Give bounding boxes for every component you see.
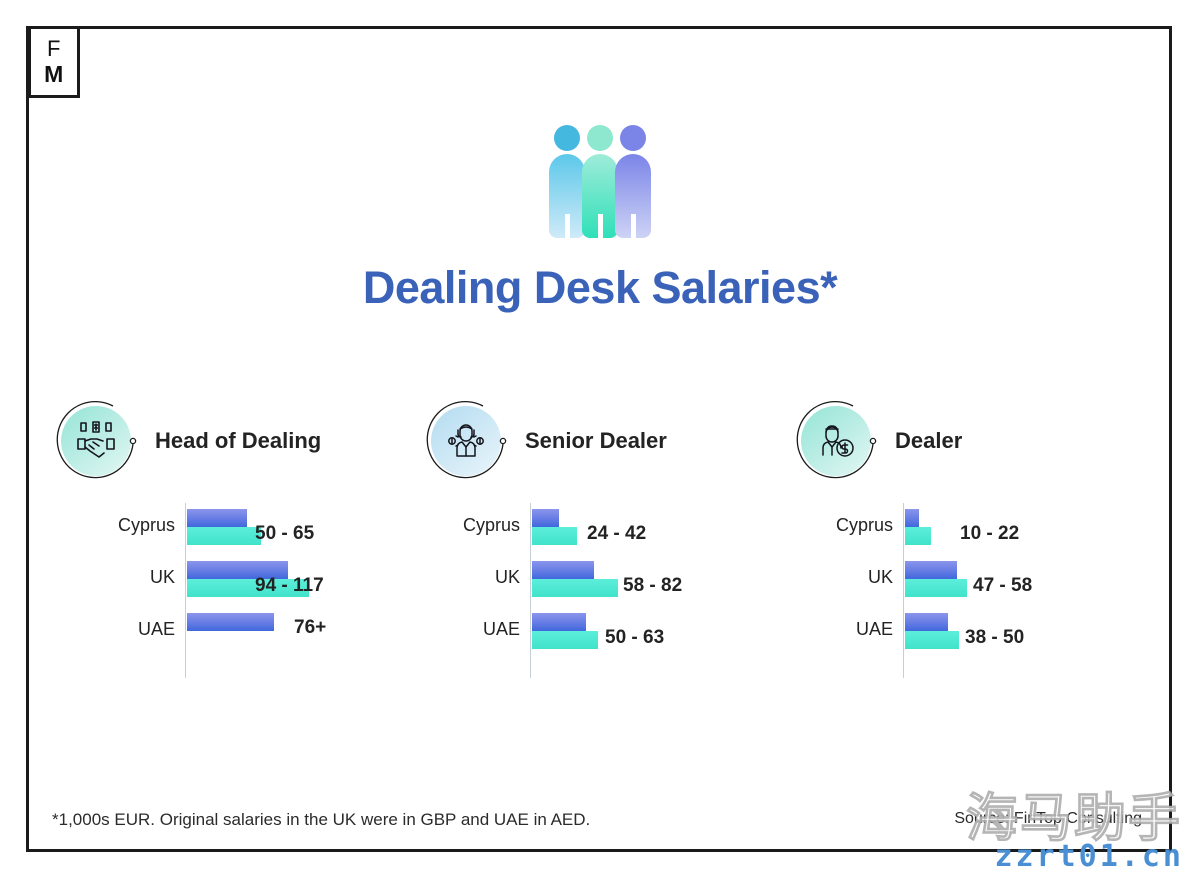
bar-low xyxy=(187,509,247,527)
source-text: Source: FinTop Consulting xyxy=(954,810,1142,828)
infographic-page: F M xyxy=(0,0,1200,878)
bar-low xyxy=(905,561,957,579)
role-title: Senior Dealer xyxy=(525,428,667,454)
row-bars xyxy=(905,613,959,649)
chart-row: UK 94 - 117 xyxy=(55,555,405,607)
chart-row: UAE 76+ xyxy=(55,607,405,659)
bar-low xyxy=(532,509,559,527)
row-label: Cyprus xyxy=(836,515,893,536)
role-panel-head-of-dealing: Head of Dealing Cyprus 50 - 65 UK xyxy=(55,395,405,678)
bar-low xyxy=(905,613,948,631)
logo-letter-f: F xyxy=(47,38,61,60)
row-bars xyxy=(532,509,577,545)
row-label: Cyprus xyxy=(118,515,175,536)
bar-high xyxy=(187,527,261,545)
salary-chart: Cyprus 50 - 65 UK 94 - 117 xyxy=(55,503,405,678)
chart-row: Cyprus 24 - 42 xyxy=(425,503,775,555)
headset-agent-icon xyxy=(445,420,487,462)
row-value: 76+ xyxy=(294,617,326,639)
row-value: 24 - 42 xyxy=(587,523,646,545)
row-value: 50 - 65 xyxy=(255,523,314,545)
chart-row: Cyprus 50 - 65 xyxy=(55,503,405,555)
chart-row: Cyprus 10 - 22 xyxy=(795,503,1145,555)
dealer-dollar-icon xyxy=(815,420,857,462)
row-bars xyxy=(905,561,967,597)
row-label: UAE xyxy=(138,619,175,640)
row-value: 58 - 82 xyxy=(623,575,682,597)
row-bars xyxy=(187,613,274,631)
role-panel-senior-dealer: Senior Dealer Cyprus 24 - 42 UK xyxy=(425,395,775,678)
chart-row: UAE 38 - 50 xyxy=(795,607,1145,659)
chart-row: UK 47 - 58 xyxy=(795,555,1145,607)
row-label: UAE xyxy=(856,619,893,640)
logo-letter-m: M xyxy=(44,63,64,86)
role-badge xyxy=(55,398,141,484)
row-bars xyxy=(187,509,261,545)
role-badge xyxy=(425,398,511,484)
three-people-icon xyxy=(541,122,663,248)
role-panel-dealer: Dealer Cyprus 10 - 22 UK xyxy=(795,395,1145,678)
salary-chart: Cyprus 10 - 22 UK 47 - 58 xyxy=(795,503,1145,678)
row-value: 38 - 50 xyxy=(965,627,1024,649)
bar-high xyxy=(532,631,598,649)
chart-row: UK 58 - 82 xyxy=(425,555,775,607)
footnote-text: *1,000s EUR. Original salaries in the UK… xyxy=(52,810,590,830)
handshake-money-icon xyxy=(75,420,117,462)
bar-high xyxy=(532,527,577,545)
role-title: Head of Dealing xyxy=(155,428,321,454)
panel-header: Dealer xyxy=(795,395,1145,487)
role-panels: Head of Dealing Cyprus 50 - 65 UK xyxy=(55,395,1145,678)
fm-logo: F M xyxy=(28,26,80,98)
panel-header: Head of Dealing xyxy=(55,395,405,487)
bar-high xyxy=(905,527,931,545)
role-badge xyxy=(795,398,881,484)
row-label: UK xyxy=(150,567,175,588)
bar-high xyxy=(905,579,967,597)
row-value: 50 - 63 xyxy=(605,627,664,649)
bar-high xyxy=(905,631,959,649)
row-bars xyxy=(905,509,931,545)
bar-low xyxy=(532,613,586,631)
row-value: 94 - 117 xyxy=(255,575,324,597)
role-title: Dealer xyxy=(895,428,962,454)
bar-low xyxy=(532,561,594,579)
row-label: Cyprus xyxy=(463,515,520,536)
page-title: Dealing Desk Salaries* xyxy=(0,262,1200,314)
bar-low xyxy=(187,613,274,631)
row-value: 10 - 22 xyxy=(960,523,1019,545)
bar-high xyxy=(532,579,618,597)
bar-low xyxy=(905,509,919,527)
row-bars xyxy=(532,561,618,597)
row-value: 47 - 58 xyxy=(973,575,1032,597)
row-label: UAE xyxy=(483,619,520,640)
row-label: UK xyxy=(495,567,520,588)
panel-header: Senior Dealer xyxy=(425,395,775,487)
chart-row: UAE 50 - 63 xyxy=(425,607,775,659)
row-bars xyxy=(532,613,598,649)
row-label: UK xyxy=(868,567,893,588)
salary-chart: Cyprus 24 - 42 UK 58 - 82 xyxy=(425,503,775,678)
